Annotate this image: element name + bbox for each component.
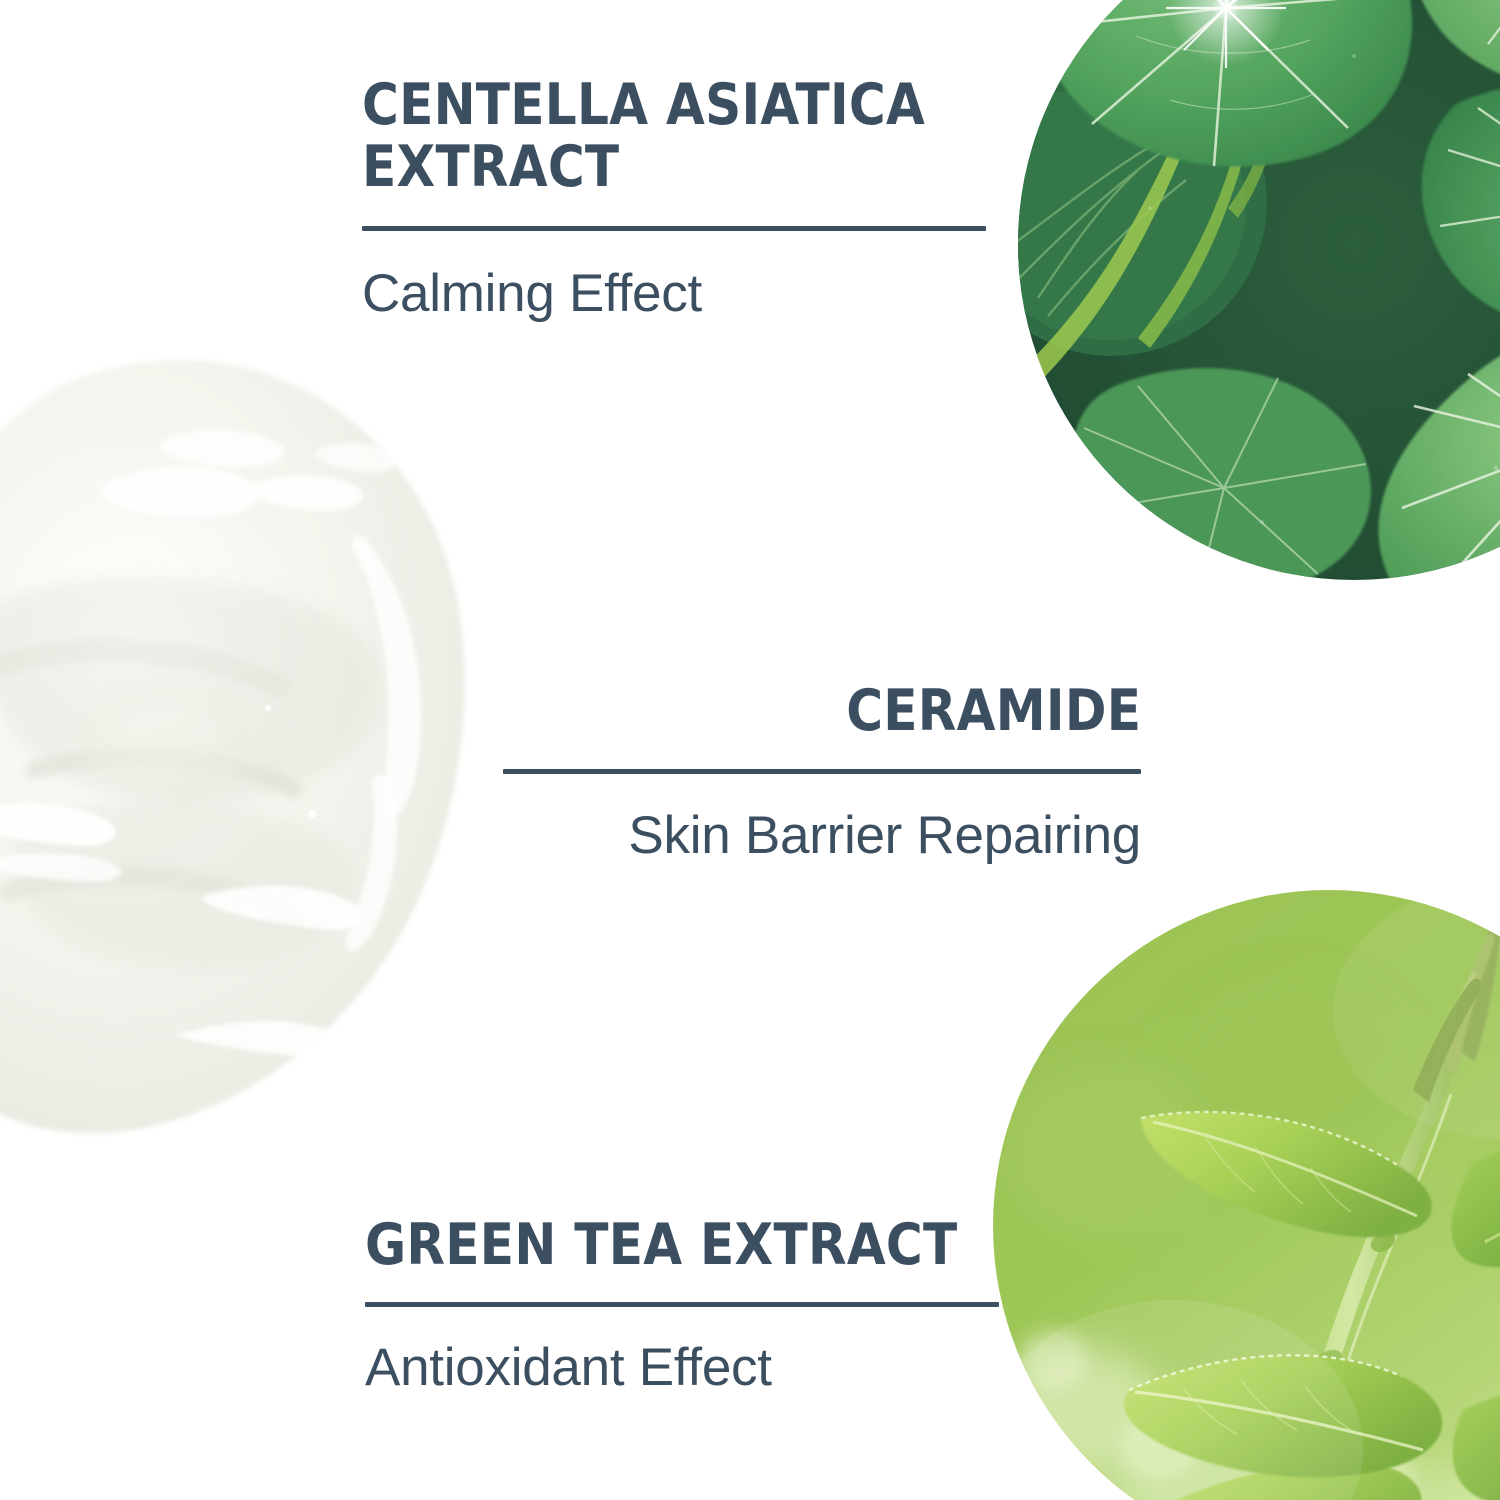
cream-swatch-photo <box>0 352 478 1148</box>
ingredient-benefit-centella: Calming Effect <box>362 263 986 326</box>
ingredient-title-greentea: GREEN TEA EXTRACT <box>365 1214 1007 1276</box>
cream-swatch-artwork <box>0 352 478 1148</box>
ingredient-title-centella: CENTELLA ASIATICA EXTRACT <box>362 74 987 198</box>
ingredient-infographic: CENTELLA ASIATICA EXTRACT Calming Effect… <box>0 0 1500 1500</box>
centella-leaves-photo <box>1018 0 1500 580</box>
green-tea-leaves-photo <box>993 890 1500 1500</box>
ingredient-block-centella: CENTELLA ASIATICA EXTRACT Calming Effect <box>362 74 986 326</box>
ingredient-divider-centella <box>362 226 986 231</box>
ingredient-benefit-greentea: Antioxidant Effect <box>365 1337 999 1400</box>
ingredient-title-ceramide: CERAMIDE <box>846 680 1141 742</box>
ingredient-block-ceramide: CERAMIDE Skin Barrier Repairing <box>503 680 1141 868</box>
ingredient-block-greentea: GREEN TEA EXTRACT Antioxidant Effect <box>365 1214 999 1400</box>
ingredient-divider-ceramide <box>503 769 1141 774</box>
centella-leaves-artwork <box>1018 0 1500 580</box>
ingredient-benefit-ceramide: Skin Barrier Repairing <box>503 805 1141 868</box>
green-tea-leaves-artwork <box>993 890 1500 1500</box>
ingredient-divider-greentea <box>365 1302 999 1307</box>
